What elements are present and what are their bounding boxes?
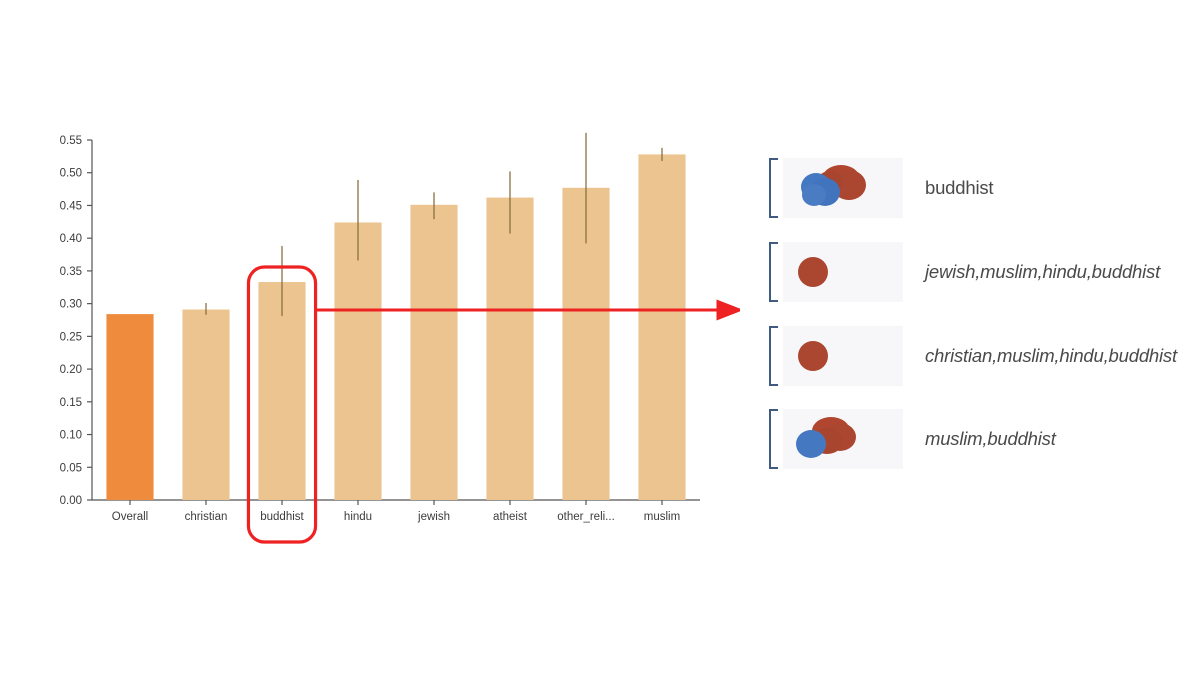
bar[interactable]	[410, 205, 457, 500]
red-circle-icon	[783, 242, 903, 302]
thumbnail-image[interactable]	[783, 326, 903, 386]
y-tick-label: 0.20	[60, 364, 82, 376]
blue-red-blob-cluster-icon	[783, 158, 903, 218]
legend-label: christian,muslim,hindu,buddhist	[925, 345, 1177, 367]
y-tick-label: 0.55	[60, 135, 82, 147]
x-tick-labels: Overallchristianbuddhisthindujewishathei…	[112, 511, 680, 523]
y-tick-label: 0.05	[60, 462, 82, 474]
thumbnail-image[interactable]	[783, 242, 903, 302]
legend-row[interactable]: christian,muslim,hindu,buddhist	[765, 323, 1200, 389]
bar[interactable]	[334, 222, 381, 500]
thumbnail-image[interactable]	[783, 409, 903, 469]
y-tick-label: 0.50	[60, 168, 82, 180]
bar[interactable]	[106, 314, 153, 500]
thumbnail-image[interactable]	[783, 158, 903, 218]
x-tick-label: muslim	[644, 511, 680, 523]
x-tick-label: christian	[185, 511, 228, 523]
bar[interactable]	[182, 310, 229, 500]
y-axis: 0.000.050.100.150.200.250.300.350.400.45…	[60, 135, 92, 507]
x-tick-label: hindu	[344, 511, 372, 523]
x-tick-label: atheist	[493, 511, 528, 523]
red-circle-icon	[783, 326, 903, 386]
y-tick-label: 0.40	[60, 233, 82, 245]
y-tick-label: 0.25	[60, 331, 82, 343]
red-blob-blue-circle-icon	[783, 409, 903, 469]
bracket-icon	[765, 323, 783, 389]
legend-row[interactable]: buddhist	[765, 155, 1200, 221]
y-tick-label: 0.30	[60, 299, 82, 311]
legend-row[interactable]: muslim,buddhist	[765, 406, 1200, 472]
x-tick-label: buddhist	[260, 511, 304, 523]
legend-label: jewish,muslim,hindu,buddhist	[925, 261, 1160, 283]
x-tick-label: jewish	[417, 511, 450, 523]
x-axis	[92, 500, 700, 505]
legend-row[interactable]: jewish,muslim,hindu,buddhist	[765, 239, 1200, 305]
legend-label: buddhist	[925, 177, 993, 199]
bar[interactable]	[486, 198, 533, 500]
image-legend-panel: buddhist jewish,muslim,hindu,buddhist ch…	[765, 0, 1200, 675]
legend-label: muslim,buddhist	[925, 428, 1056, 450]
bar-series	[106, 133, 685, 500]
y-tick-label: 0.35	[60, 266, 82, 278]
bracket-icon	[765, 239, 783, 305]
bar-chart-panel: 0.000.050.100.150.200.250.300.350.400.45…	[0, 0, 740, 675]
y-tick-label: 0.15	[60, 397, 82, 409]
bar-chart-svg: 0.000.050.100.150.200.250.300.350.400.45…	[0, 0, 740, 675]
bracket-icon	[765, 406, 783, 472]
y-tick-label: 0.00	[60, 495, 82, 507]
y-tick-label: 0.45	[60, 200, 82, 212]
bar[interactable]	[638, 154, 685, 500]
x-tick-label: other_reli...	[557, 511, 615, 523]
x-tick-label: Overall	[112, 511, 148, 523]
bracket-icon	[765, 155, 783, 221]
y-tick-label: 0.10	[60, 430, 82, 442]
